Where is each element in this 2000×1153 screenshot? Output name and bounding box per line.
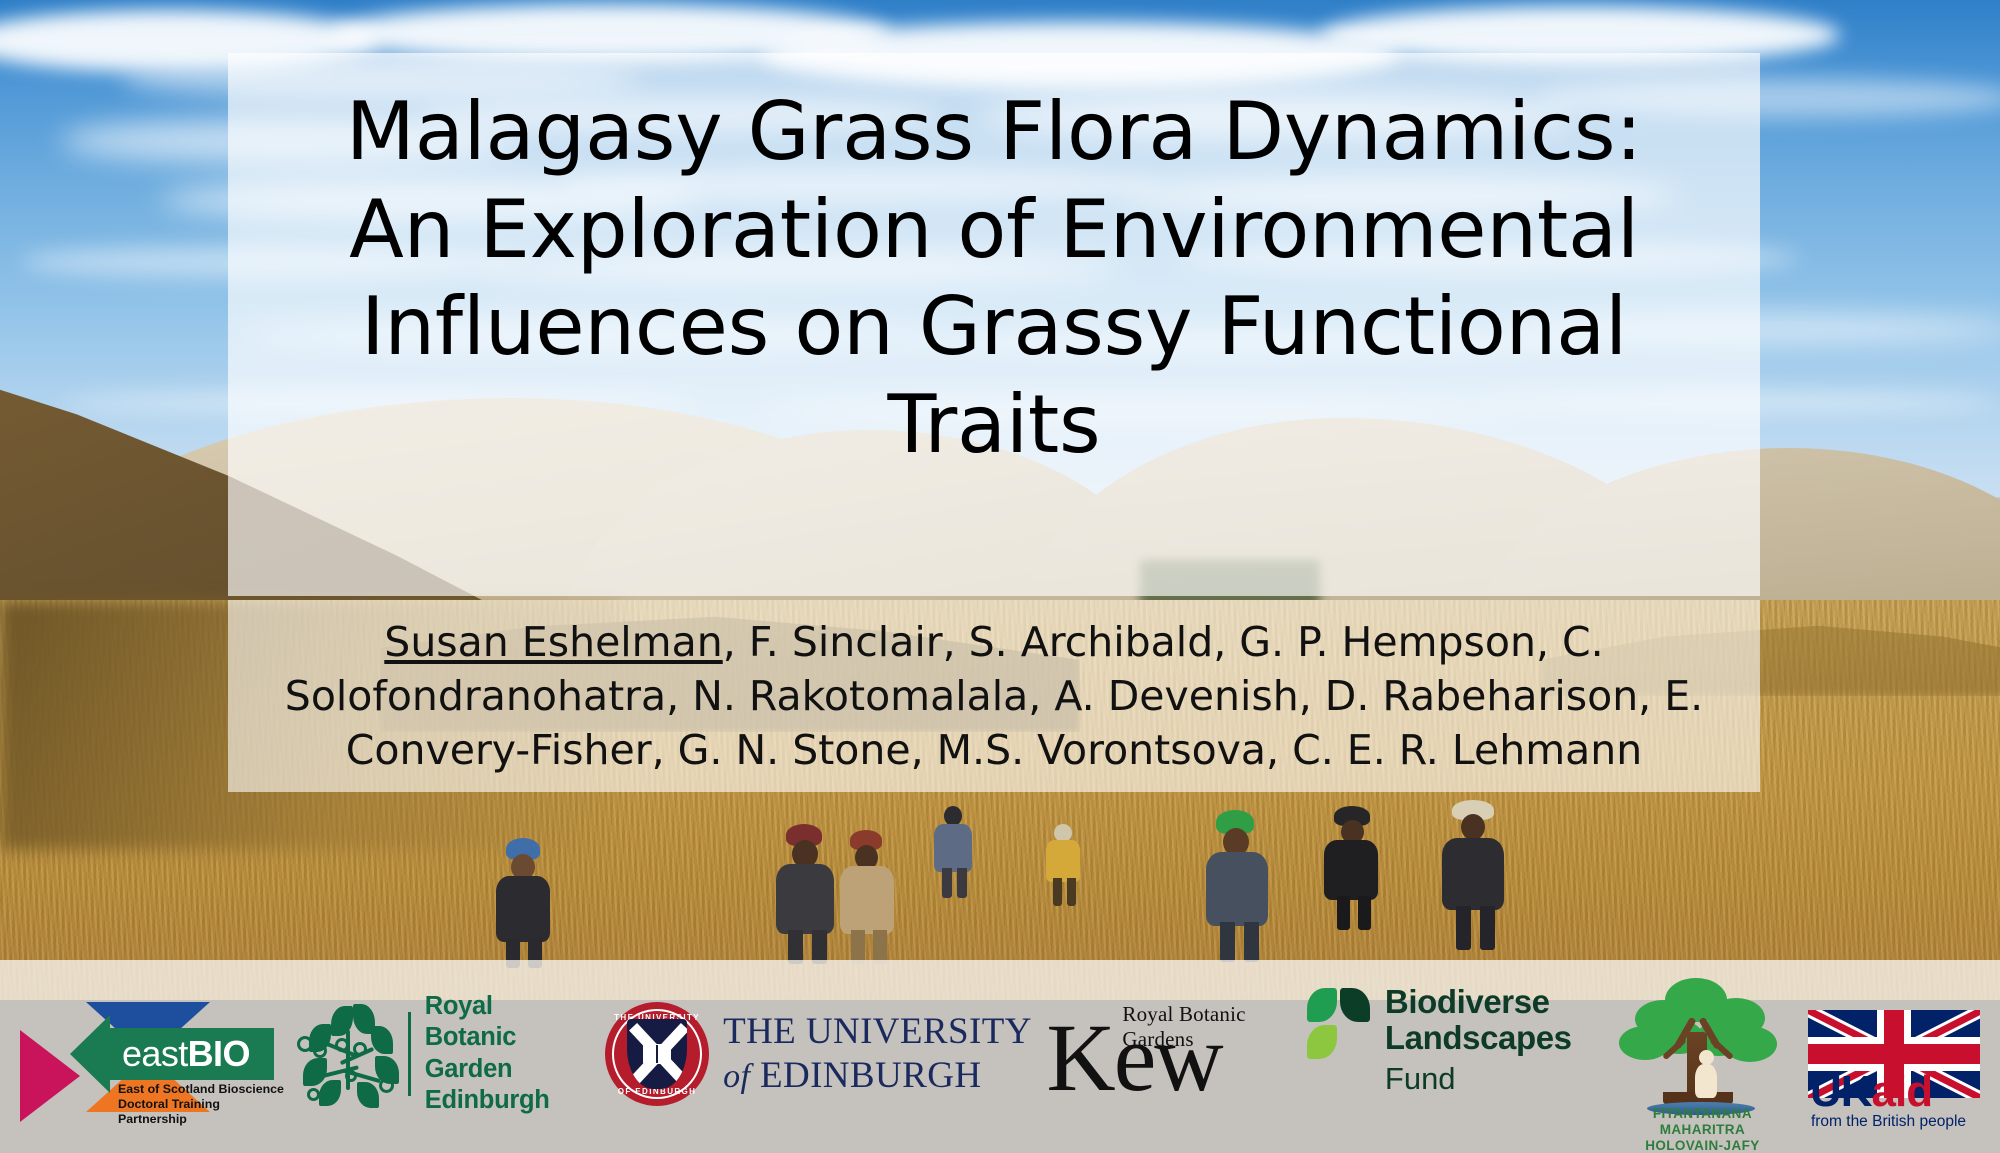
blf-leaf-icon (1307, 988, 1373, 1074)
logo-royal-botanic-garden-edinburgh[interactable]: Royal Botanic Garden Edinburgh (291, 990, 591, 1118)
human-figure-icon (1695, 1064, 1717, 1098)
presenting-author: Susan Eshelman (384, 618, 722, 666)
person-figure (1042, 824, 1086, 906)
person-figure (1198, 810, 1278, 962)
logo-biodiverse-landscapes-fund[interactable]: Biodiverse Landscapes Fund (1307, 984, 1597, 1124)
person-figure (1320, 806, 1386, 930)
person-figure (1434, 800, 1514, 950)
blf-line-1: Biodiverse (1385, 984, 1572, 1021)
logo-university-of-edinburgh[interactable]: THE UNIVERSITY OF EDINBURGH THE UNIVERSI… (605, 1002, 1032, 1106)
open-book-icon (643, 1044, 671, 1064)
person-figure (832, 830, 902, 964)
title-line-1: Malagasy Grass Flora Dynamics: (326, 83, 1662, 181)
eastbio-tagline-line1: East of Scotland Bioscience (118, 1082, 288, 1097)
eastbio-wordmark: eastBIO (122, 1033, 274, 1077)
fitantanana-caption-line1: FITANTANANA MAHARITRA (1611, 1106, 1793, 1139)
edinburgh-word-line1: THE UNIVERSITY (723, 1013, 1032, 1050)
authors-panel: Susan Eshelman, F. Sinclair, S. Archibal… (228, 600, 1760, 792)
eastbio-tagline: East of Scotland Bioscience Doctoral Tra… (118, 1082, 288, 1127)
title-panel: Malagasy Grass Flora Dynamics: An Explor… (228, 53, 1760, 596)
person-figure (486, 838, 560, 968)
sponsor-logo-bar: eastBIO East of Scotland Bioscience Doct… (0, 960, 2000, 1153)
eastbio-word-bio: BIO (188, 1033, 250, 1074)
person-figure (930, 806, 978, 898)
eastbio-word-east: east (122, 1033, 188, 1074)
title-slide: Malagasy Grass Flora Dynamics: An Explor… (0, 0, 2000, 1153)
human-figure-head (1699, 1050, 1714, 1065)
blf-leaf-mid (1307, 988, 1337, 1022)
rbge-wordmark: Royal Botanic Garden Edinburgh (425, 991, 591, 1115)
edinburgh-word-of: of (723, 1058, 750, 1095)
rbge-divider (408, 1012, 411, 1096)
title-line-3: Influences on Grassy Functional (326, 278, 1662, 376)
blf-line-3: Fund (1385, 1060, 1572, 1097)
ukaid-wordmark: UKaid (1810, 1069, 1932, 1115)
ukaid-word-uk: UK (1810, 1067, 1872, 1116)
fitantanana-caption-line2: HOLOVAIN-JAFY (1611, 1138, 1793, 1153)
edinburgh-wordmark: THE UNIVERSITY of EDINBURGH (723, 1013, 1032, 1094)
rbge-line-3: Edinburgh (425, 1085, 591, 1116)
eastbio-tagline-line2: Doctoral Training Partnership (118, 1097, 288, 1127)
edinburgh-word-edinburgh: EDINBURGH (760, 1055, 981, 1096)
author-list: Susan Eshelman, F. Sinclair, S. Archibal… (228, 600, 1760, 792)
logo-eastbio[interactable]: eastBIO East of Scotland Bioscience Doct… (14, 992, 276, 1116)
rbge-plant-icon (291, 996, 395, 1112)
blf-leaf-light (1307, 1025, 1337, 1059)
title-line-4: Traits (326, 376, 1662, 474)
blf-wordmark: Biodiverse Landscapes Fund (1385, 984, 1572, 1098)
rbge-line-1: Royal (425, 991, 591, 1022)
logo-fitantanana-maharitra[interactable]: FITANTANANA MAHARITRA HOLOVAIN-JAFY (1611, 974, 1793, 1134)
logo-kew[interactable]: Royal Botanic Gardens Kew (1046, 996, 1292, 1112)
rbge-line-2: Botanic Garden (425, 1022, 591, 1084)
flag-cross-red-horizontal (1808, 1044, 1980, 1064)
edinburgh-word-line2: of EDINBURGH (723, 1057, 1032, 1094)
title-line-2: An Exploration of Environmental (326, 181, 1662, 279)
kew-wordmark: Kew (1046, 1010, 1221, 1106)
ukaid-tagline: from the British people (1811, 1113, 1966, 1131)
blf-line-2: Landscapes (1385, 1020, 1572, 1057)
edinburgh-crest-icon: THE UNIVERSITY OF EDINBURGH (605, 1002, 709, 1106)
blf-leaf-dark (1340, 988, 1370, 1022)
ukaid-word-aid: aid (1872, 1067, 1933, 1116)
crest-shield (627, 1019, 687, 1089)
fitantanana-caption: FITANTANANA MAHARITRA HOLOVAIN-JAFY (1611, 1106, 1793, 1153)
logo-uk-aid[interactable]: UKaid from the British people (1808, 979, 1986, 1129)
page-title: Malagasy Grass Flora Dynamics: An Explor… (228, 53, 1760, 596)
